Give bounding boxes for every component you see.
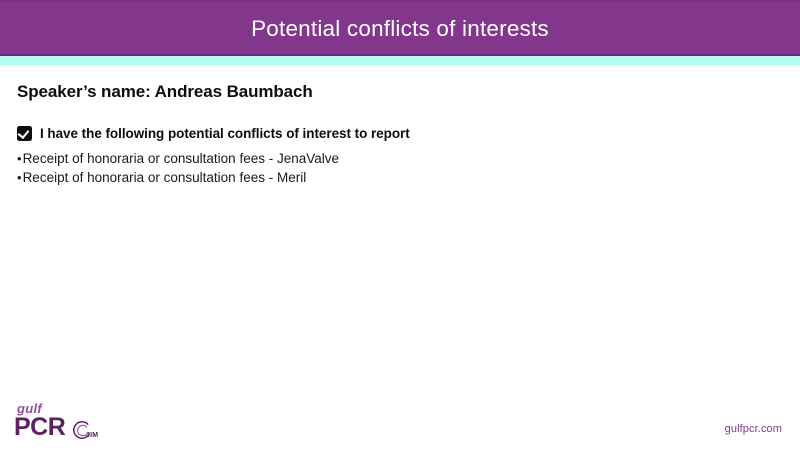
page-title: Potential conflicts of interests <box>251 18 549 41</box>
logo-pcr-text: PCR <box>14 415 65 440</box>
header-accent-strip <box>0 56 800 65</box>
list-item-label: Receipt of honoraria or consultation fee… <box>23 149 339 168</box>
checked-checkbox-icon[interactable] <box>17 126 32 141</box>
logo-jim-text: JIM <box>86 432 98 439</box>
website-url: gulfpcr.com <box>725 424 782 435</box>
bullet-icon: • <box>17 149 22 168</box>
list-item: • Receipt of honoraria or consultation f… <box>17 149 339 168</box>
list-item-label: Receipt of honoraria or consultation fee… <box>23 168 307 187</box>
checkmark-icon <box>18 127 30 139</box>
declaration-row[interactable]: I have the following potential conflicts… <box>17 126 410 141</box>
list-item: • Receipt of honoraria or consultation f… <box>17 168 339 187</box>
declaration-label: I have the following potential conflicts… <box>40 126 410 141</box>
bullet-icon: • <box>17 168 22 187</box>
slide-content: Speaker’s name: Andreas Baumbach I have … <box>0 65 800 450</box>
gulfpcr-logo: gulf PCR JIM <box>14 402 114 446</box>
disclosure-list: • Receipt of honoraria or consultation f… <box>17 149 339 187</box>
slide-header: Potential conflicts of interests <box>0 0 800 56</box>
speaker-name-line: Speaker’s name: Andreas Baumbach <box>17 82 313 102</box>
